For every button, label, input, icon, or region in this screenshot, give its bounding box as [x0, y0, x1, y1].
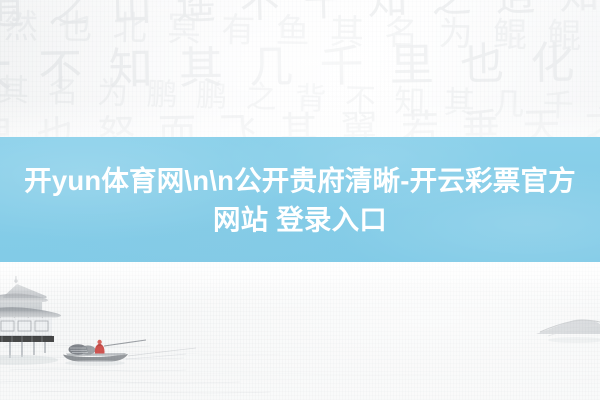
title-line-1: 开yun体育网\n\n公开贵府清晰-开云彩票官方 [24, 165, 576, 196]
calligraphy-row: 然 也 北 冥 有 鱼 其 名 为 鲲 鲲 之 [4, 11, 600, 54]
calligraphy-row: 逍 之 山 遥 不 千 知 之 逍 知 游 之 [0, 0, 600, 30]
calligraphy-texture-band: 逍 之 山 遥 不 千 知 之 逍 知 游 之 然 也 北 冥 有 鱼 其 名 … [0, 0, 600, 137]
watermark-fade-overlay [0, 0, 600, 137]
title-band: 开yun体育网\n\n公开贵府清晰-开云彩票官方 网站 登录入口 [0, 137, 600, 262]
calligraphy-row: 其 名 为 鹏 鹏 之 背 不 知 其 几 千 [0, 77, 600, 124]
paper-grain-overlay [0, 0, 600, 137]
calligraphy-ink-layer: 逍 之 山 遥 不 千 知 之 逍 知 游 之 然 也 北 冥 有 鱼 其 名 … [0, 0, 600, 137]
banner-image: 逍 之 山 遥 不 千 知 之 逍 知 游 之 然 也 北 冥 有 鱼 其 名 … [0, 0, 600, 400]
ink-landscape-band [0, 262, 600, 400]
mist-overlay [0, 262, 600, 400]
title-line-2: 网站 登录入口 [213, 204, 387, 235]
banner-title: 开yun体育网\n\n公开贵府清晰-开云彩票官方 网站 登录入口 [6, 161, 594, 239]
ink-landscape-scene [0, 262, 600, 400]
calligraphy-row: 大 不 知 其 几 千 里 也 化 而 为 鸟 [0, 43, 588, 94]
calligraphy-row: 里 也 怒 而 飞 其 翼 若 垂 天 之 云 [0, 108, 596, 137]
